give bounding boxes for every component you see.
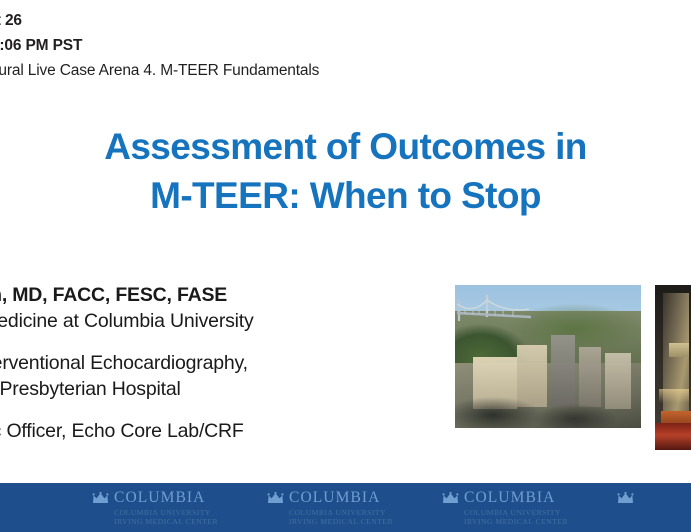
spacer (0, 334, 458, 350)
brand-logo-2: COLUMBIA COLUMBIA UNIVERSITY IRVING MEDI… (267, 489, 427, 529)
brand-subtitle: COLUMBIA UNIVERSITY IRVING MEDICAL CENTE… (289, 508, 427, 526)
brand-wordmark: COLUMBIA (464, 490, 555, 505)
brand-subtitle-line-1: COLUMBIA UNIVERSITY (464, 508, 602, 517)
title-line-1: Assessment of Outcomes in (0, 122, 691, 171)
brand-logo-3: COLUMBIA COLUMBIA UNIVERSITY IRVING MEDI… (442, 489, 602, 529)
crown-icon (92, 492, 109, 504)
brand-subtitle-line-2: IRVING MEDICAL CENTER (114, 517, 252, 526)
brand-subtitle-line-2: IRVING MEDICAL CENTER (289, 517, 427, 526)
presenter-affiliation-2: r of Interventional Echocardiography, (0, 350, 458, 376)
brand-subtitle: COLUMBIA UNIVERSITY IRVING MEDICAL CENTE… (0, 508, 10, 526)
brand-row: COLUMBIA (267, 489, 427, 506)
crown-icon (267, 492, 284, 504)
brand-subtitle-line-1: COLUMBIA UNIVERSITY (0, 508, 10, 517)
spacer (0, 402, 458, 418)
session-date: day, Oct 26 (0, 8, 502, 33)
presenter-affiliation-1: or of Medicine at Columbia University (0, 308, 458, 334)
suspension-bridge-icon (457, 291, 533, 333)
brand-subtitle-line-2: IRVING MEDICAL CENTER (0, 517, 10, 526)
brand-wordmark: COLUMBIA (114, 490, 205, 505)
crown-icon (617, 492, 634, 504)
brand-subtitle: COLUMBIA UNIVERSITY IRVING MEDICAL CENTE… (464, 508, 602, 526)
title-line-2: M-TEER: When to Stop (0, 171, 691, 220)
brand-row: COLUMBIA (442, 489, 602, 506)
presenter-affiliation-4: cientific Officer, Echo Core Lab/CRF (0, 418, 458, 444)
building-facade-photo (655, 285, 691, 450)
brand-subtitle-line-1: COLUMBIA UNIVERSITY (114, 508, 252, 517)
session-time: 3 PM - 3:06 PM PST (0, 33, 502, 58)
session-meta-block: day, Oct 26 3 PM - 3:06 PM PST e: Struct… (0, 8, 502, 83)
brand-subtitle-line-1: COLUMBIA UNIVERSITY (289, 508, 427, 517)
brand-row: COLUMBIA (92, 489, 252, 506)
presenter-affiliation-5: rk, NY (0, 444, 458, 470)
brand-row: COLUMBIA (0, 489, 10, 506)
building-facade-artwork (655, 285, 691, 450)
brand-row (617, 489, 691, 506)
brand-wordmark: COLUMBIA (289, 490, 380, 505)
brand-footer-band: COLUMBIA COLUMBIA UNIVERSITY IRVING MEDI… (0, 483, 691, 532)
slide-title: Assessment of Outcomes in M-TEER: When t… (0, 122, 691, 220)
presenter-block: a Hahn, MD, FACC, FESC, FASE or of Medic… (0, 282, 458, 470)
presenter-affiliation-3: w York Presbyterian Hospital (0, 376, 458, 402)
crown-icon (442, 492, 459, 504)
campus-aerial-photo (455, 285, 641, 428)
brand-subtitle-line-2: IRVING MEDICAL CENTER (464, 517, 602, 526)
brand-logo-1: COLUMBIA COLUMBIA UNIVERSITY IRVING MEDI… (92, 489, 252, 529)
brand-logo-clipped-left: COLUMBIA COLUMBIA UNIVERSITY IRVING MEDI… (0, 489, 10, 529)
brand-logo-clipped-right (617, 489, 691, 529)
presentation-slide: day, Oct 26 3 PM - 3:06 PM PST e: Struct… (0, 0, 691, 532)
brand-subtitle: COLUMBIA UNIVERSITY IRVING MEDICAL CENTE… (114, 508, 252, 526)
presenter-name: a Hahn, MD, FACC, FESC, FASE (0, 282, 458, 308)
session-track: e: Structural Live Case Arena 4. M-TEER … (0, 58, 502, 83)
